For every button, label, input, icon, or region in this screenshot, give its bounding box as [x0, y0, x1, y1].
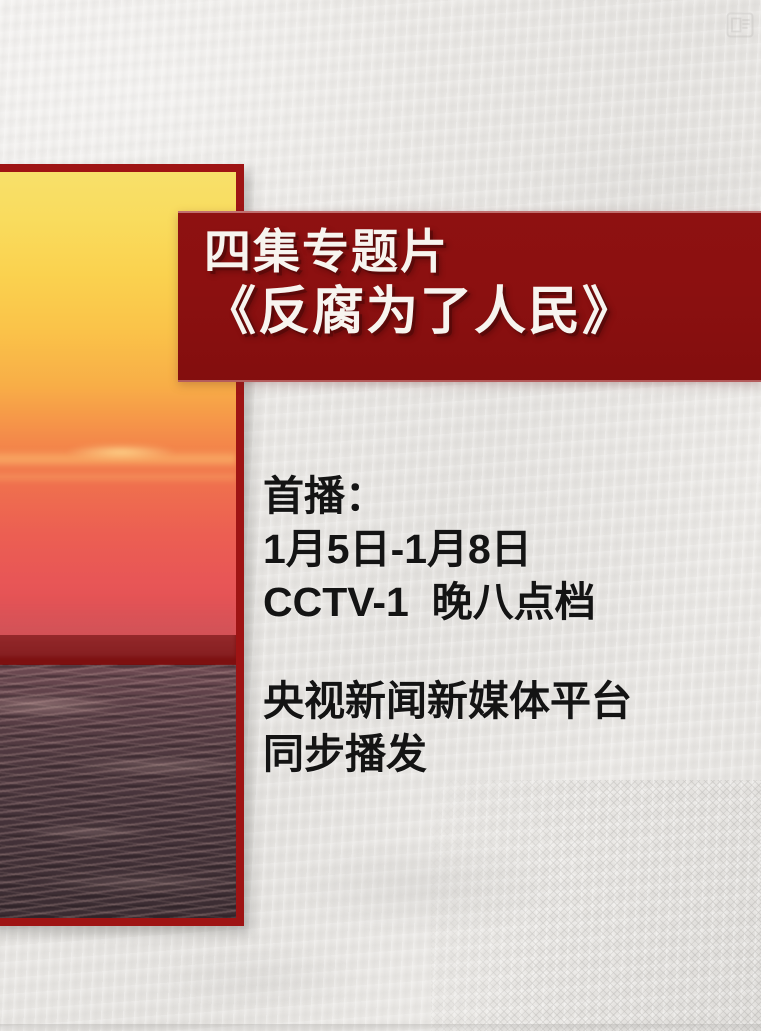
title-text-group: 四集专题片 《反腐为了人民》: [204, 225, 751, 342]
info-spacer: [263, 629, 733, 675]
horizon-haze: [0, 597, 236, 657]
platform-line-2: 同步播发: [263, 728, 733, 781]
title-banner: 四集专题片 《反腐为了人民》: [178, 211, 761, 382]
paper-bottom-edge: [0, 1024, 761, 1031]
premiere-date-range: 1月5日-1月8日: [263, 523, 733, 576]
sea-water: [0, 665, 236, 918]
paper-crosshatch-texture: [431, 780, 761, 1031]
cloud-band: [0, 472, 236, 482]
premiere-label: 首播：: [263, 470, 733, 523]
cloud-puff: [66, 444, 176, 460]
channel-timeslot: CCTV-1 晚八点档: [263, 576, 733, 629]
title-line-program-type: 四集专题片: [204, 225, 751, 280]
platform-line-1: 央视新闻新媒体平台: [263, 675, 733, 728]
sea-glint: [0, 665, 236, 918]
title-line-program-name: 《反腐为了人民》: [204, 282, 751, 342]
promo-poster: 四集专题片 《反腐为了人民》 首播： 1月5日-1月8日 CCTV-1 晚八点档…: [0, 0, 761, 1031]
broadcast-info-block: 首播： 1月5日-1月8日 CCTV-1 晚八点档 央视新闻新媒体平台 同步播发: [263, 470, 733, 781]
image-placeholder-icon: [726, 12, 754, 38]
